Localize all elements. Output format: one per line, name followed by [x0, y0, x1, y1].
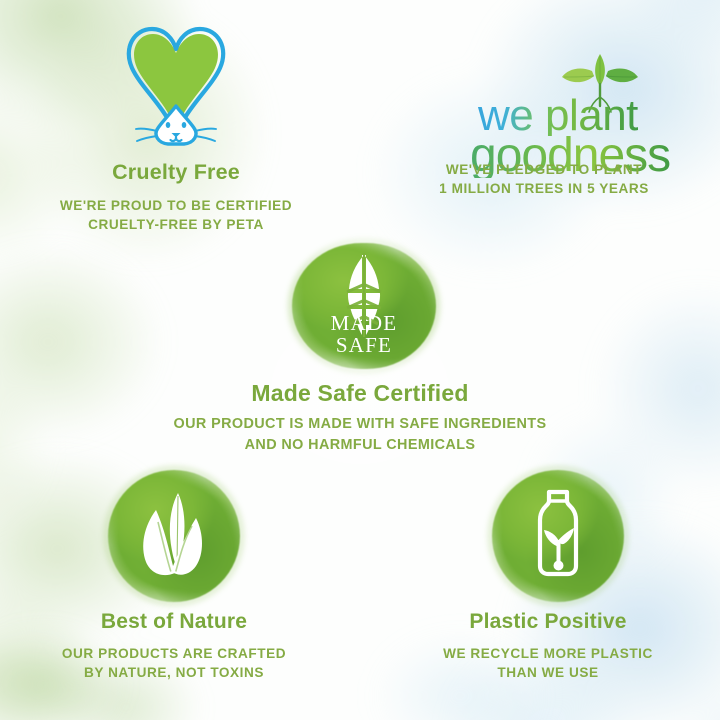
- made-safe-word-made: MADE: [292, 313, 436, 334]
- plastic-positive-badge: [492, 470, 624, 602]
- section-cruelty-free: Cruelty Free WE'RE PROUD TO BE CERTIFIED…: [8, 160, 344, 234]
- infographic-canvas: we plant goodness: [0, 0, 720, 720]
- made-safe-badge: MADE SAFE: [292, 243, 436, 369]
- section-title: Plastic Positive: [382, 610, 714, 634]
- we-plant-goodness-logo: we plant goodness: [470, 58, 680, 173]
- bottle-sprout-icon: [492, 470, 624, 602]
- section-best-of-nature: Best of Nature OUR PRODUCTS ARE CRAFTED …: [8, 610, 340, 683]
- heart-bunny-icon: [116, 22, 236, 150]
- section-made-safe-certified: Made Safe Certified OUR PRODUCT IS MADE …: [80, 380, 640, 455]
- section-line-2: 1 MILLION TREES IN 5 YEARS: [376, 179, 712, 198]
- section-we-plant-goodness: We Plant Goodness WE'VE PLEDGED TO PLANT…: [376, 160, 712, 199]
- section-plastic-positive: Plastic Positive WE RECYCLE MORE PLASTIC…: [382, 610, 714, 683]
- section-line-2: BY NATURE, NOT TOXINS: [8, 663, 340, 682]
- section-line-2: THAN WE USE: [382, 663, 714, 682]
- section-title: Made Safe Certified: [80, 380, 640, 406]
- section-title: Cruelty Free: [8, 160, 344, 185]
- section-line-2: AND NO HARMFUL CHEMICALS: [80, 435, 640, 455]
- section-line-1: OUR PRODUCT IS MADE WITH SAFE INGREDIENT…: [80, 414, 640, 434]
- three-leaves-icon: [108, 470, 240, 602]
- section-title: Best of Nature: [8, 610, 340, 634]
- section-line-1: WE'RE PROUD TO BE CERTIFIED: [8, 196, 344, 215]
- section-line-1: WE'VE PLEDGED TO PLANT: [376, 160, 712, 179]
- section-line-1: OUR PRODUCTS ARE CRAFTED: [8, 644, 340, 663]
- section-line-2: CRUELTY-FREE BY PETA: [8, 215, 344, 234]
- section-line-1: WE RECYCLE MORE PLASTIC: [382, 644, 714, 663]
- made-safe-word-safe: SAFE: [292, 335, 436, 356]
- best-of-nature-badge: [108, 470, 240, 602]
